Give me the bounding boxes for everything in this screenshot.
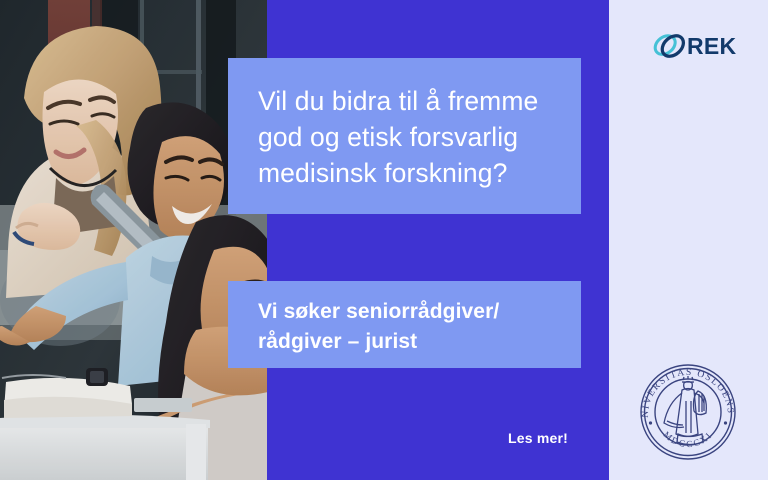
rek-logo[interactable]: REK [648,24,740,68]
rek-wordmark: REK [687,35,736,58]
subheadline-text: Vi søker seniorrådgiver/ rådgiver – juri… [258,297,568,357]
headline-box: Vil du bidra til å fremme god og etisk f… [228,58,581,214]
read-more-button[interactable]: Les mer! [508,430,568,446]
interlocking-rings-icon [648,25,690,67]
recruitment-banner: REK Vil du bidra til å fremme god og eti… [0,0,768,480]
university-seal-icon: UNIVERSITAS OSLOENSIS MDCCCXI [634,361,742,463]
subheadline-box: Vi søker seniorrådgiver/ rådgiver – juri… [228,281,581,368]
seal-year-text: MDCCCXI [661,429,714,449]
headline-text: Vil du bidra til å fremme god og etisk f… [258,83,558,191]
